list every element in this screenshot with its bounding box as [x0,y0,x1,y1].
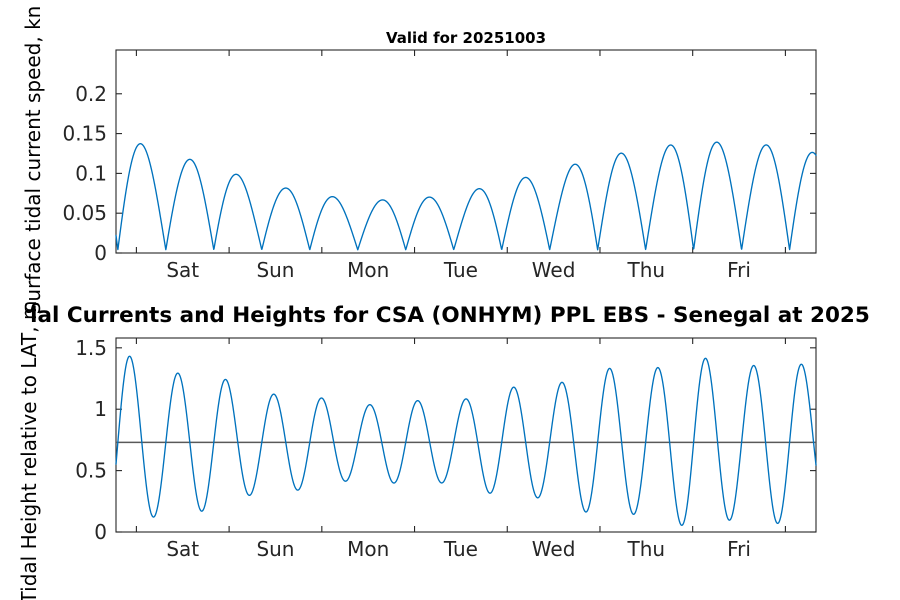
ytick-label: 1.5 [75,336,107,360]
figure-canvas: 00.050.10.150.2 SatSunMonTueWedThuFri Va… [0,0,900,600]
tidal-height-ytick-labels: 00.511.5 [75,336,107,544]
xtick-label-mon: Mon [347,258,389,282]
xtick-label-sat: Sat [166,537,199,561]
xtick-label-fri: Fri [727,537,751,561]
ytick-label: 0.1 [75,161,107,185]
xtick-label-fri: Fri [727,258,751,282]
current-speed-ytick-labels: 00.050.10.150.2 [62,82,107,265]
current-speed-series-line [116,142,816,250]
current-speed-axis-label: Surface tidal current speed, kn [21,6,45,315]
xtick-label-thu: Thu [627,258,666,282]
xtick-label-sun: Sun [256,258,294,282]
xtick-label-sun: Sun [256,537,294,561]
tidal-height-axes-box [116,338,816,532]
ytick-label: 0.15 [62,122,107,146]
tidal-height-series-line [116,356,816,525]
xtick-label-thu: Thu [627,537,666,561]
subplot-tidal-height: 00.511.5 SatSunMonTueWedThuFri [75,336,816,561]
ytick-label: 0.05 [62,201,107,225]
ytick-label: 1 [94,397,107,421]
tidal-height-tickmarks [116,338,816,532]
tidal-forecast-figure: 00.050.10.150.2 SatSunMonTueWedThuFri Va… [0,0,900,600]
xtick-label-wed: Wed [532,537,576,561]
current-speed-xtick-labels: SatSunMonTueWedThuFri [166,258,751,282]
xtick-label-mon: Mon [347,537,389,561]
figure-main-title: lal Currents and Heights for CSA (ONHYM)… [30,303,870,328]
ytick-label: 0 [94,520,107,544]
tidal-height-axis-label: Tidal Height relative to LAT, m [17,301,41,600]
ytick-label: 0 [94,241,107,265]
tidal-height-xtick-labels: SatSunMonTueWedThuFri [166,537,751,561]
subplot-current-speed: 00.050.10.150.2 SatSunMonTueWedThuFri Va… [62,29,816,282]
xtick-label-tue: Tue [443,258,478,282]
subplot-title-valid-for: Valid for 20251003 [386,29,546,47]
xtick-label-wed: Wed [532,258,576,282]
xtick-label-tue: Tue [443,537,478,561]
ytick-label: 0.5 [75,459,107,483]
ytick-label: 0.2 [75,82,107,106]
xtick-label-sat: Sat [166,258,199,282]
